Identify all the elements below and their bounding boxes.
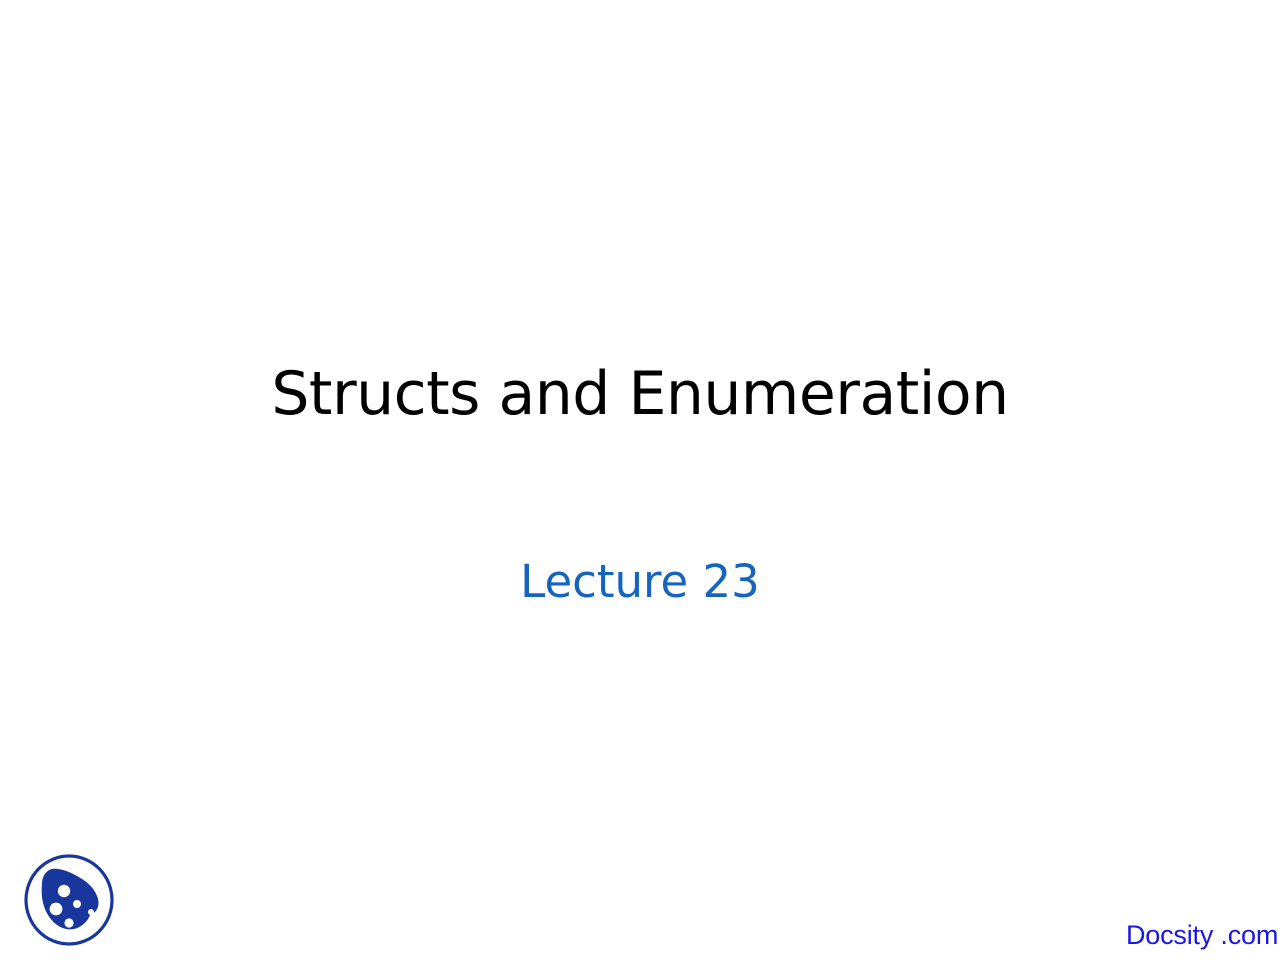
docsity-wordmark[interactable]: Docsity .com <box>1126 920 1278 951</box>
subtitle-block: Lecture 23 <box>0 556 1280 608</box>
page-title: Structs and Enumeration <box>0 360 1280 429</box>
slide-subtitle: Lecture 23 <box>0 556 1280 608</box>
presentation-slide: Structs and Enumeration Lecture 23 Docsi… <box>0 0 1280 960</box>
docsity-logo-icon <box>22 851 118 949</box>
title-block: Structs and Enumeration <box>0 360 1280 429</box>
